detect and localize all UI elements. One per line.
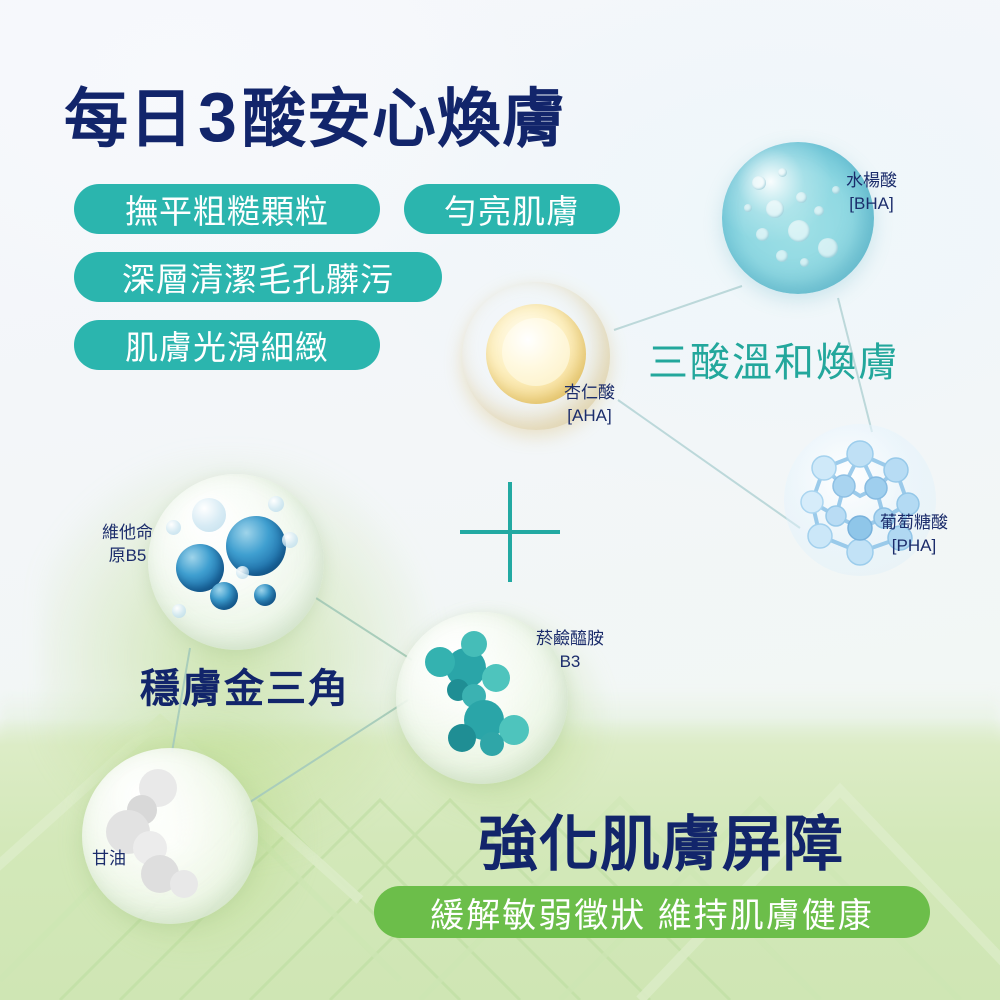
label-pha-name: 葡萄糖酸 [880,512,948,535]
label-b3: 菸鹼醯胺 B3 [536,628,604,674]
barrier-pill: 緩解敏弱徵狀 維持肌膚健康 [374,886,930,938]
label-aha-name: 杏仁酸 [564,382,615,405]
benefit-pill-2: 勻亮肌膚 [404,184,620,234]
label-bha-name: 水楊酸 [846,170,897,193]
benefit-pill-1: 撫平粗糙顆粒 [74,184,380,234]
label-b3-code: B3 [536,651,604,674]
label-aha-code: [AHA] [564,405,615,428]
page-title: 每日3酸安心煥膚 [64,82,567,152]
label-bha-code: [BHA] [846,193,897,216]
label-pha: 葡萄糖酸 [PHA] [880,512,948,558]
b5-sphere [148,474,324,650]
label-pha-code: [PHA] [880,535,948,558]
label-b5-code: 原B5 [102,545,153,568]
headline-prefix: 每日 [64,83,194,155]
label-glycerin: 甘油 [92,848,126,871]
headline-suffix: 酸安心煥膚 [242,83,567,155]
infographic-poster: 每日3酸安心煥膚 撫平粗糙顆粒 勻亮肌膚 深層清潔毛孔髒污 肌膚光滑細緻 水楊酸… [0,0,1000,1000]
barrier-headline: 強化肌膚屏障 [478,796,844,883]
soothe-section-title: 穩膚金三角 [140,656,350,714]
benefit-pill-4: 肌膚光滑細緻 [74,320,380,370]
acid-section-title: 三酸溫和煥膚 [648,330,900,388]
label-b5: 維他命 原B5 [102,522,153,568]
glycerin-sphere [82,748,258,924]
bha-sphere [722,142,874,294]
label-glycerin-name: 甘油 [92,848,126,871]
label-bha: 水楊酸 [BHA] [846,170,897,216]
aha-core [502,318,570,386]
benefit-pill-3: 深層清潔毛孔髒污 [74,252,442,302]
label-b3-name: 菸鹼醯胺 [536,628,604,651]
headline-number: 3 [194,78,242,156]
glycerin-molecule [82,748,258,924]
label-b5-name: 維他命 [102,522,153,545]
label-aha: 杏仁酸 [AHA] [564,382,615,428]
plus-icon [460,482,560,582]
